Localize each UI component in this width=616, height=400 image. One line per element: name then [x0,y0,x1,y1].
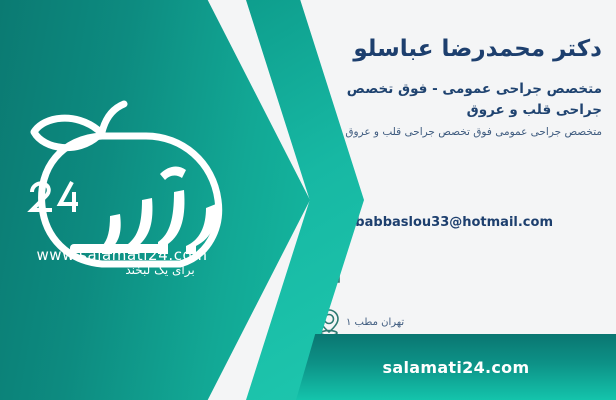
logo-slogan: برای یک لبخند [125,263,194,278]
doctor-name: دکتر محمدرضا عباسلو [310,34,602,65]
business-card: برای یک لبخند www.salamati24.com دکتر مح… [0,0,616,400]
doctor-specialty: متخصص جراحی عمومی - فوق تخصص جراحی قلب و… [310,79,602,121]
footer-website[interactable]: salamati24.com [383,358,530,377]
footer-bar: salamati24.com [296,334,616,400]
stem-icon [102,104,124,132]
logo-website-url: www.salamati24.com [14,246,230,264]
doctor-specialty-secondary: متخصص جراحی عمومی فوق تخصص جراحی قلب و ع… [310,125,602,141]
brand-wordmark [70,167,216,254]
leaf-icon [34,118,98,148]
